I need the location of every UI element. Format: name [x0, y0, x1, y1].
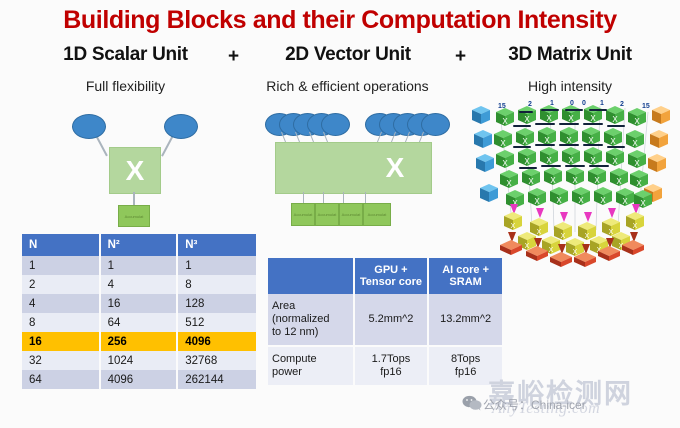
column-header-n3: N³ — [177, 234, 257, 256]
table-row: 1 1 1 — [22, 256, 257, 275]
table-row: 32 1024 32768 — [22, 351, 257, 370]
cell-area-aicore: 13.2mm^2 — [428, 294, 503, 346]
table-row-highlighted: 16 256 4096 — [22, 332, 257, 351]
scalar-operand-2 — [164, 114, 198, 139]
wechat-icon — [462, 395, 482, 411]
comparison-row-compute-power: Compute power 1.7Tops fp16 8Tops fp16 — [268, 346, 503, 386]
value-line-1: 8Tops — [451, 353, 480, 365]
cell-n: 1 — [22, 256, 100, 275]
subtitle-vector-unit: Rich & efficient operations — [240, 78, 455, 94]
table-header-row: N N² N³ — [22, 234, 257, 256]
value-line-2: fp16 — [455, 366, 476, 378]
cell-n: 2 — [22, 275, 100, 294]
cell-n2: 16 — [100, 294, 178, 313]
scalar-accumulator: Accumulat — [118, 205, 150, 227]
heading-scalar-unit: 1D Scalar Unit — [18, 44, 233, 66]
n-powers-table: N N² N³ 1 1 1 2 4 8 4 16 128 8 — [22, 234, 258, 389]
cell-n2: 64 — [100, 313, 178, 332]
column-header-ai-core-sram: AI core + SRAM — [428, 258, 503, 294]
matrix-input-left — [472, 106, 498, 202]
table-row: 8 64 512 — [22, 313, 257, 332]
header-line-1: GPU + — [374, 264, 407, 276]
header-line-2: SRAM — [449, 276, 481, 288]
vector-operand-10 — [421, 113, 450, 136]
table-row: 2 4 8 — [22, 275, 257, 294]
cell-n2: 256 — [100, 332, 178, 351]
table-row: 64 4096 262144 — [22, 370, 257, 389]
cell-n3: 8 — [177, 275, 257, 294]
comparison-table: GPU + Tensor core AI core + SRAM Area (n… — [268, 258, 504, 387]
page-title: Building Blocks and their Computation In… — [0, 6, 680, 35]
vector-accumulator-cell: Accumulat — [339, 203, 363, 226]
value-line-1: 1.7Tops — [372, 353, 411, 365]
cell-n: 16 — [22, 332, 100, 351]
column-header-n2: N² — [100, 234, 178, 256]
vector-accumulator-cell: Accumulat — [363, 203, 391, 226]
column-header-gpu-tensor-core: GPU + Tensor core — [354, 258, 429, 294]
cell-n3: 32768 — [177, 351, 257, 370]
unit-headings-row: 1D Scalar Unit + 2D Vector Unit + 3D Mat… — [0, 44, 680, 70]
cell-n3: 262144 — [177, 370, 257, 389]
scalar-operand-1 — [72, 114, 106, 139]
matrix-edge-label: 0 — [582, 100, 586, 107]
matrix-edge-label: 15 — [642, 103, 650, 110]
cell-n3: 4096 — [177, 332, 257, 351]
value-line-2: fp16 — [380, 366, 401, 378]
comparison-corner-cell — [268, 258, 354, 294]
watermark-chinese: 嘉峪检测网 — [488, 372, 633, 411]
cell-n3: 1 — [177, 256, 257, 275]
watermark-wechat: 公众号：China-icer — [483, 396, 586, 413]
matrix-unit-diagram: X X — [470, 92, 675, 267]
matrix-cube-cells — [494, 105, 652, 208]
label-line-2: power — [272, 366, 302, 378]
slide-canvas: Building Blocks and their Computation In… — [0, 0, 680, 428]
cell-n: 4 — [22, 294, 100, 313]
watermark-english: AnyTesting.com — [492, 400, 600, 418]
cell-n2: 1 — [100, 256, 178, 275]
comparison-row-area: Area (normalized to 12 nm) 5.2mm^2 13.2m… — [268, 294, 503, 346]
vector-multiply-glyph: X — [372, 147, 418, 189]
column-header-n: N — [22, 234, 100, 256]
row-label-compute-power: Compute power — [268, 346, 354, 386]
vector-accumulator-row: Accumulat Accumulat Accumulat Accumulat — [291, 203, 391, 226]
header-line-2: Tensor core — [360, 276, 422, 288]
matrix-edge-label: 2 — [620, 101, 624, 108]
cell-n3: 128 — [177, 294, 257, 313]
scalar-multiply-unit: X — [109, 147, 161, 194]
cell-compute-gpu: 1.7Tops fp16 — [354, 346, 429, 386]
vector-unit-diagram: X Accumulat Accumulat Accumulat Accumula… — [255, 104, 455, 224]
heading-vector-unit: 2D Vector Unit — [248, 44, 448, 66]
label-line-2: (normalized — [272, 313, 329, 325]
scalar-lead-accumulator — [133, 192, 135, 206]
table-row: 4 16 128 — [22, 294, 257, 313]
subtitle-scalar-unit: Full flexibility — [18, 78, 233, 94]
scalar-unit-diagram: X Accumulat — [40, 104, 230, 224]
comparison-header-row: GPU + Tensor core AI core + SRAM — [268, 258, 503, 294]
plus-separator-1: + — [228, 46, 239, 68]
cell-n2: 1024 — [100, 351, 178, 370]
heading-matrix-unit: 3D Matrix Unit — [470, 44, 670, 66]
header-line-1: AI core + — [442, 264, 489, 276]
cell-n: 64 — [22, 370, 100, 389]
cell-n3: 512 — [177, 313, 257, 332]
vector-accumulator-cell: Accumulat — [315, 203, 339, 226]
cell-n2: 4 — [100, 275, 178, 294]
cell-n: 8 — [22, 313, 100, 332]
plus-separator-2: + — [455, 46, 466, 68]
matrix-edge-label: 1 — [600, 100, 604, 107]
vector-accumulator-cell: Accumulat — [291, 203, 315, 226]
vector-unit-block: X — [275, 142, 432, 194]
matrix-cube-svg: X X — [470, 92, 675, 267]
label-line-1: Compute — [272, 353, 317, 365]
cell-n: 32 — [22, 351, 100, 370]
row-label-area: Area (normalized to 12 nm) — [268, 294, 354, 346]
label-line-1: Area — [272, 300, 295, 312]
cell-n2: 4096 — [100, 370, 178, 389]
vector-operand-5 — [321, 113, 350, 136]
matrix-input-right — [644, 106, 670, 202]
cell-compute-aicore: 8Tops fp16 — [428, 346, 503, 386]
cell-area-gpu: 5.2mm^2 — [354, 294, 429, 346]
label-line-3: to 12 nm) — [272, 326, 318, 338]
